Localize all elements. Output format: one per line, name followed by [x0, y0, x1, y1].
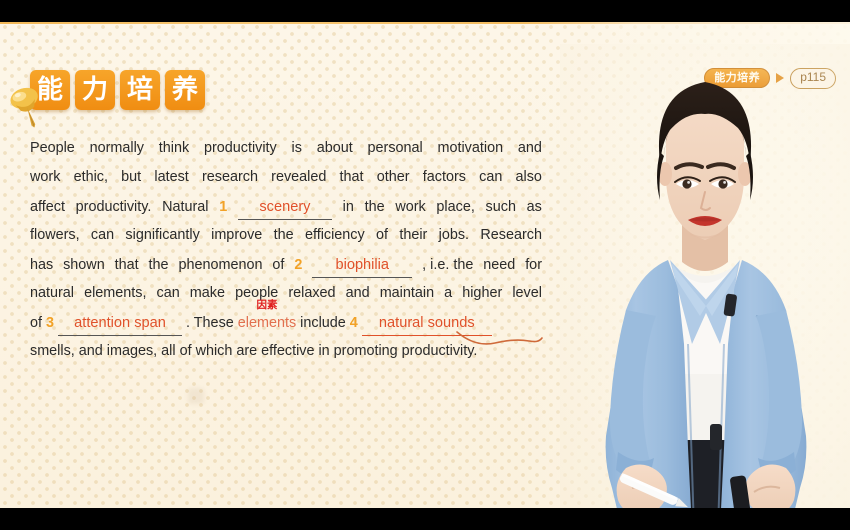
passage-word: natural: [30, 285, 74, 301]
passage-word: factors: [423, 169, 466, 185]
passage-text: Peoplenormallythinkproductivityisaboutpe…: [30, 140, 542, 372]
passage-word: need: [483, 257, 515, 273]
passage-word: such: [486, 199, 516, 215]
passage-word: relaxed: [288, 285, 335, 301]
passage-word: shown: [63, 257, 105, 273]
title-tile-3: 培: [120, 70, 160, 110]
smudge-mark: [188, 388, 204, 404]
passage-word: elements,: [84, 285, 146, 301]
blank-answer[interactable]: biophilia: [312, 256, 412, 278]
passage-word: work: [395, 199, 425, 215]
passage-word: place,: [436, 199, 474, 215]
passage-word: personal: [368, 140, 423, 156]
passage-word: improve: [211, 227, 262, 243]
passage-word: jobs.: [439, 227, 469, 243]
passage-word: has: [30, 257, 53, 273]
passage-word: the: [365, 199, 385, 215]
passage-word: affect: [30, 199, 65, 215]
blank-number-marker: 4: [350, 315, 358, 331]
presenter-video: [560, 44, 850, 508]
letterbox-bottom: [0, 508, 850, 530]
passage-word: productivity.: [76, 199, 152, 215]
passage-word: research: [202, 169, 258, 185]
title-tile-2: 力: [75, 70, 115, 110]
title-tile-4: 养: [165, 70, 205, 110]
blank-number-marker: 3: [46, 315, 54, 331]
passage-word: , i.e. the: [422, 257, 473, 273]
keyword-text: elements: [238, 315, 296, 331]
passage-word: make: [190, 285, 225, 301]
passage-word: Research: [480, 227, 542, 243]
lesson-slide: 能 力 培 养 能力培养 p115 Peoplenormallythinkpro…: [0, 22, 850, 508]
passage-word: level: [512, 285, 542, 301]
keyword-annotation: 因素: [256, 300, 277, 311]
passage-word: their: [399, 227, 427, 243]
passage-word: flowers,: [30, 227, 80, 243]
passage-word: and: [518, 140, 542, 156]
passage-word: that: [340, 169, 364, 185]
passage-word: productivity: [204, 140, 277, 156]
passage-word: efficiency: [305, 227, 365, 243]
passage-line: naturalelements,canmakepeoplerelaxedandm…: [30, 285, 542, 314]
passage-word: is: [292, 140, 302, 156]
passage-line: of 3 attention span . These 因素elements i…: [30, 314, 542, 343]
passage-word: the: [149, 257, 169, 273]
passage-word: can: [91, 227, 114, 243]
passage-word: Natural: [162, 199, 208, 215]
passage-word: of: [272, 257, 284, 273]
passage-word: but: [121, 169, 141, 185]
passage-word: include: [300, 315, 346, 331]
passage-word: work: [30, 169, 60, 185]
passage-word: the: [274, 227, 294, 243]
passage-word: . These: [186, 315, 234, 331]
passage-word: a: [444, 285, 452, 301]
passage-line: hasshownthatthephenomenonof2biophilia, i…: [30, 256, 542, 285]
passage-word: can: [479, 169, 502, 185]
section-title: 能 力 培 养: [30, 70, 205, 110]
passage-word: think: [159, 140, 189, 156]
passage-word: smells, and images, all of which are eff…: [30, 343, 477, 359]
passage-word: of: [30, 315, 42, 331]
passage-word: of: [376, 227, 388, 243]
blank-answer[interactable]: natural sounds: [362, 314, 492, 336]
passage-word: maintain: [380, 285, 434, 301]
passage-word: for: [525, 257, 542, 273]
passage-word: normally: [90, 140, 144, 156]
passage-line: affectproductivity.Natural1sceneryinthew…: [30, 198, 542, 227]
blank-number-marker: 1: [219, 199, 227, 215]
passage-word: motivation: [438, 140, 504, 156]
blank-number-marker: 2: [294, 257, 302, 273]
passage-word: other: [377, 169, 410, 185]
blank-answer[interactable]: scenery: [238, 198, 332, 220]
passage-word: higher: [462, 285, 502, 301]
passage-word: that: [115, 257, 139, 273]
letterbox-top: [0, 0, 850, 22]
passage-word: significantly: [125, 227, 199, 243]
pushpin-icon: [2, 78, 50, 130]
passage-word: ethic,: [74, 169, 108, 185]
highlighted-keyword: 因素elements: [238, 315, 296, 331]
passage-word: People: [30, 140, 75, 156]
passage-word: latest: [154, 169, 188, 185]
passage-word: in: [343, 199, 354, 215]
passage-word: as: [527, 199, 542, 215]
passage-line: workethic,butlatestresearchrevealedthato…: [30, 169, 542, 198]
passage-line: flowers,cansignificantlyimprovetheeffici…: [30, 227, 542, 256]
video-slide-stage: 能 力 培 养 能力培养 p115 Peoplenormallythinkpro…: [0, 0, 850, 530]
passage-word: about: [317, 140, 353, 156]
passage-word: phenomenon: [178, 257, 262, 273]
passage-line: smells, and images, all of which are eff…: [30, 343, 542, 372]
passage-word: also: [516, 169, 542, 185]
passage-word: can: [157, 285, 180, 301]
passage-word: revealed: [271, 169, 326, 185]
blank-answer[interactable]: attention span: [58, 314, 182, 336]
passage-line: Peoplenormallythinkproductivityisaboutpe…: [30, 140, 542, 169]
passage-word: and: [346, 285, 370, 301]
